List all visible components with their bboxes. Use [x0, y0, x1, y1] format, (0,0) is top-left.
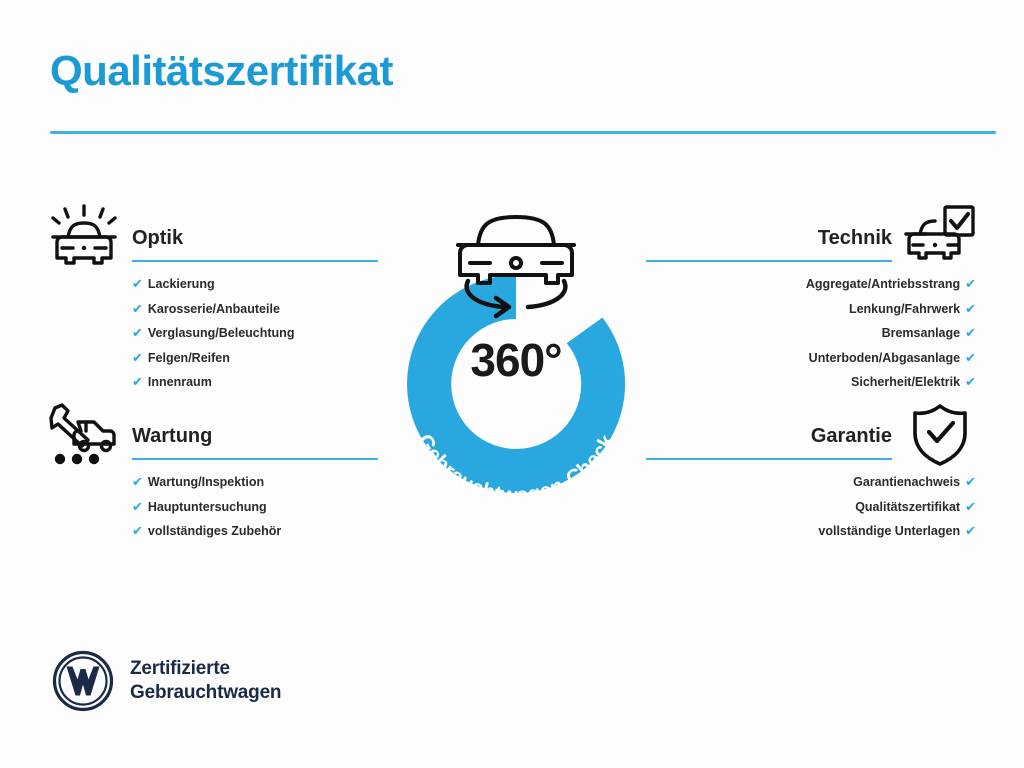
- list-item: Sicherheit/Elektrik✔: [636, 370, 976, 395]
- section-wartung: Wartung ✔Wartung/Inspektion ✔Hauptunters…: [48, 398, 388, 544]
- page-title: Qualitätszertifikat: [50, 50, 393, 92]
- list-item-label: Verglasung/Beleuchtung: [148, 326, 295, 340]
- checklist: Garantienachweis✔ Qualitätszertifikat✔ v…: [636, 470, 976, 544]
- list-item: ✔Innenraum: [132, 370, 388, 395]
- section-divider: [132, 260, 378, 262]
- list-item: Bremsanlage✔: [636, 321, 976, 346]
- check-icon: ✔: [965, 474, 976, 489]
- list-item-label: Wartung/Inspektion: [148, 475, 264, 489]
- vw-brand-line-2: Gebrauchtwagen: [130, 681, 281, 705]
- check-icon: ✔: [965, 325, 976, 340]
- list-item: Aggregate/Antriebsstrang✔: [636, 272, 976, 297]
- list-item: ✔Lackierung: [132, 272, 388, 297]
- list-item-label: Karosserie/Anbauteile: [148, 302, 280, 316]
- list-item-label: Qualitätszertifikat: [855, 500, 960, 514]
- check-icon: ✔: [965, 350, 976, 365]
- check-icon: ✔: [132, 499, 143, 514]
- badge-center-text: 360°: [376, 333, 656, 387]
- check-icon: ✔: [132, 474, 143, 489]
- check-icon: ✔: [965, 499, 976, 514]
- section-garantie: Garantie Garantienachweis✔ Qualitätszert…: [636, 398, 976, 544]
- check-icon: ✔: [965, 523, 976, 538]
- check-icon: ✔: [132, 325, 143, 340]
- section-divider: [646, 260, 892, 262]
- certificate-page: Qualitätszertifikat: [0, 0, 1024, 768]
- list-item: Lenkung/Fahrwerk✔: [636, 297, 976, 322]
- list-item-label: Aggregate/Antriebsstrang: [806, 277, 960, 291]
- list-item-label: Hauptuntersuchung: [148, 500, 267, 514]
- check-icon: ✔: [965, 276, 976, 291]
- section-optik: Optik ✔Lackierung ✔Karosserie/Anbauteile…: [48, 200, 388, 395]
- list-item-label: Lenkung/Fahrwerk: [849, 302, 960, 316]
- vw-brand-text: Zertifizierte Gebrauchtwagen: [130, 657, 281, 706]
- list-item-label: Lackierung: [148, 277, 215, 291]
- list-item: ✔Hauptuntersuchung: [132, 495, 388, 520]
- 360-check-badge: Gebrauchtwagen-Check 360°: [376, 193, 656, 493]
- list-item-label: Bremsanlage: [882, 326, 961, 340]
- list-item: vollständige Unterlagen✔: [636, 519, 976, 544]
- list-item-label: Sicherheit/Elektrik: [851, 375, 960, 389]
- check-icon: ✔: [132, 276, 143, 291]
- list-item-label: Garantienachweis: [853, 475, 960, 489]
- section-title: Garantie: [811, 426, 892, 446]
- checklist: ✔Lackierung ✔Karosserie/Anbauteile ✔Verg…: [132, 272, 388, 395]
- shield-check-icon: [904, 402, 976, 468]
- list-item: Unterboden/Abgasanlage✔: [636, 346, 976, 371]
- list-item-label: vollständige Unterlagen: [818, 524, 960, 538]
- vw-brand-block: Zertifizierte Gebrauchtwagen: [52, 650, 281, 712]
- section-header: Optik: [48, 200, 388, 272]
- list-item: ✔Karosserie/Anbauteile: [132, 297, 388, 322]
- section-divider: [132, 458, 378, 460]
- wrench-car-icon: [48, 402, 120, 468]
- section-divider: [646, 458, 892, 460]
- check-icon: ✔: [132, 374, 143, 389]
- section-title: Wartung: [132, 426, 212, 446]
- header-divider: [50, 131, 996, 134]
- list-item-label: Innenraum: [148, 375, 212, 389]
- list-item: ✔Wartung/Inspektion: [132, 470, 388, 495]
- vw-brand-line-1: Zertifizierte: [130, 657, 281, 681]
- checklist: ✔Wartung/Inspektion ✔Hauptuntersuchung ✔…: [132, 470, 388, 544]
- check-icon: ✔: [132, 523, 143, 538]
- car-shine-icon: [48, 204, 120, 270]
- check-icon: ✔: [965, 374, 976, 389]
- list-item: ✔Verglasung/Beleuchtung: [132, 321, 388, 346]
- list-item: Garantienachweis✔: [636, 470, 976, 495]
- car-checkbox-icon: [904, 204, 976, 270]
- section-technik: Technik Aggregate/Antriebsstrang✔ Lenkun…: [636, 200, 976, 395]
- vw-logo-icon: [52, 650, 114, 712]
- list-item: ✔vollständiges Zubehör: [132, 519, 388, 544]
- section-title: Optik: [132, 228, 183, 248]
- section-header: Wartung: [48, 398, 388, 470]
- checklist: Aggregate/Antriebsstrang✔ Lenkung/Fahrwe…: [636, 272, 976, 395]
- list-item-label: vollständiges Zubehör: [148, 524, 281, 538]
- list-item: ✔Felgen/Reifen: [132, 346, 388, 371]
- list-item: Qualitätszertifikat✔: [636, 495, 976, 520]
- list-item-label: Unterboden/Abgasanlage: [809, 351, 960, 365]
- section-header: Garantie: [636, 398, 976, 470]
- check-icon: ✔: [132, 350, 143, 365]
- list-item-label: Felgen/Reifen: [148, 351, 230, 365]
- check-icon: ✔: [965, 301, 976, 316]
- section-title: Technik: [818, 228, 892, 248]
- section-header: Technik: [636, 200, 976, 272]
- check-icon: ✔: [132, 301, 143, 316]
